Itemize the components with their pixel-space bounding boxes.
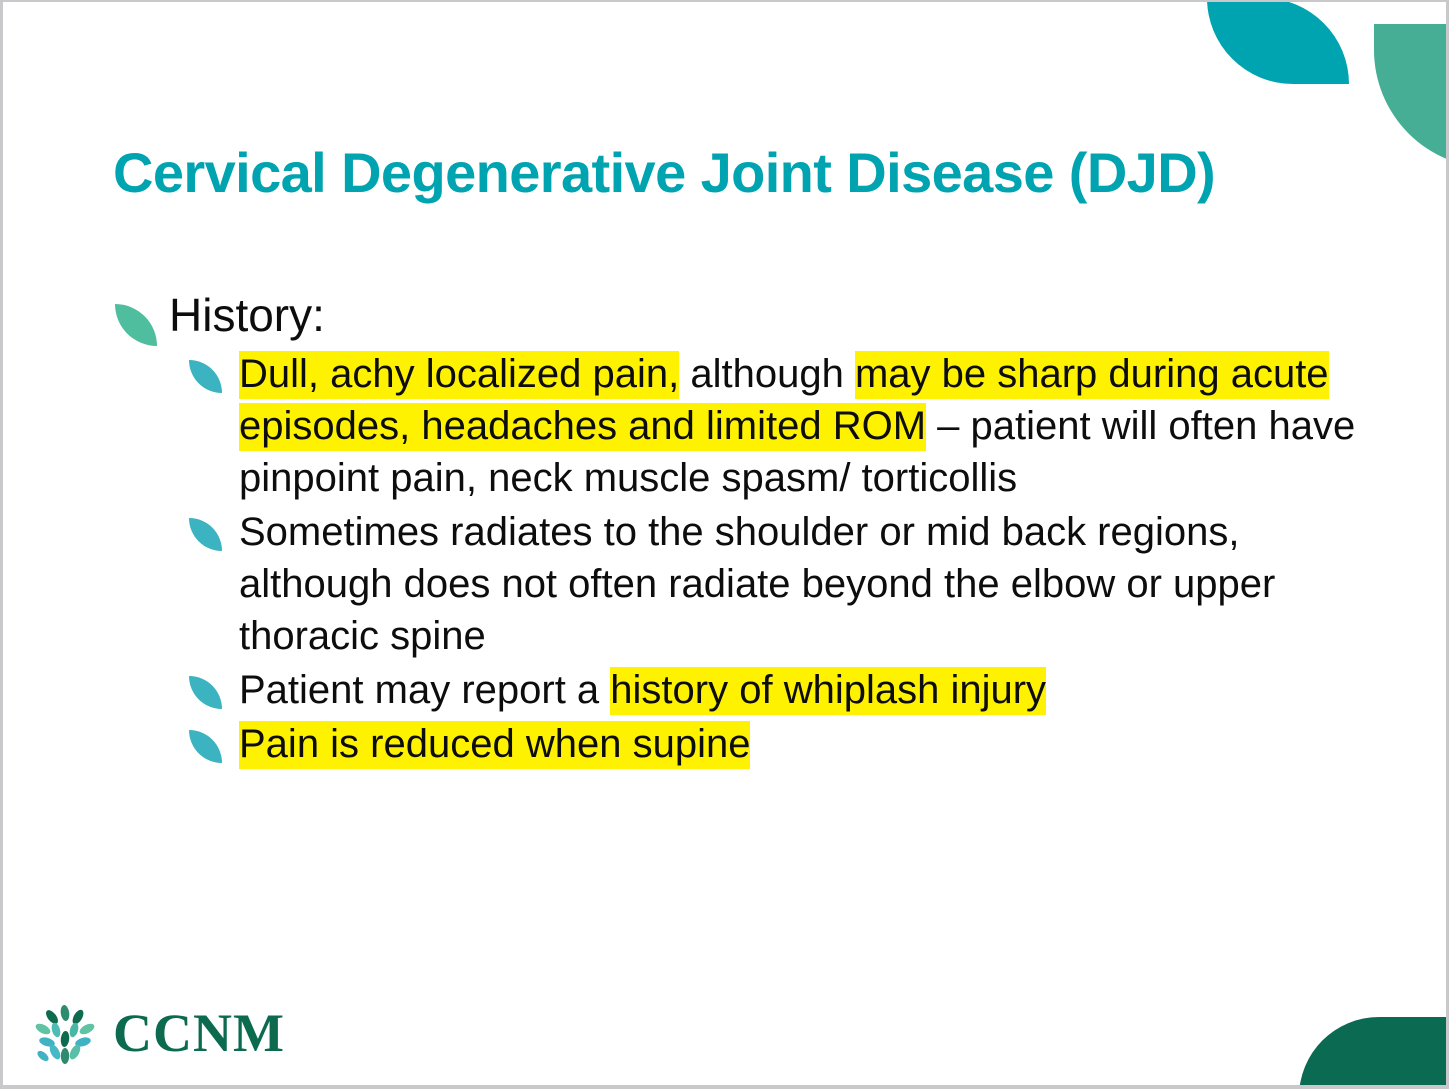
bullet-text: Pain is reduced when supine <box>239 721 750 769</box>
top-right-green-quarter-circle <box>1374 24 1449 168</box>
highlight-mark: history of whiplash injury <box>610 667 1046 715</box>
leaf-bullet-icon <box>115 304 157 346</box>
bullet-text: Patient may report a history of whiplash… <box>239 667 1046 715</box>
bullet-text-segment: Sometimes radiates to the shoulder or mi… <box>239 510 1275 658</box>
bullet-text: Dull, achy localized pain, although may … <box>239 351 1355 500</box>
ccnm-logo: CCNM <box>31 1002 291 1076</box>
leaf-bullet-icon <box>189 360 222 393</box>
top-right-teal-leaf-shape <box>1207 0 1349 84</box>
bullet-level2-list: Dull, achy localized pain, although may … <box>107 348 1357 770</box>
leaf-bullet-icon <box>189 518 222 551</box>
slide-title: Cervical Degenerative Joint Disease (DJD… <box>113 142 1343 205</box>
ccnm-wordmark: CCNM <box>113 1006 285 1060</box>
bullet-level1-label: History: <box>169 289 325 341</box>
leaf-cluster-logo-icon <box>31 1004 99 1072</box>
bullet-level1-history: History: <box>107 290 1357 342</box>
bottom-right-dark-green-quarter-circle <box>1299 1017 1449 1089</box>
slide-canvas: Cervical Degenerative Joint Disease (DJD… <box>0 0 1449 1089</box>
highlight-mark: Dull, achy localized pain, <box>239 351 679 399</box>
list-item: Patient may report a history of whiplash… <box>107 664 1357 716</box>
bullet-text-segment: although <box>679 352 855 396</box>
list-item: Pain is reduced when supine <box>107 718 1357 770</box>
leaf-bullet-icon <box>189 676 222 709</box>
list-item: Dull, achy localized pain, although may … <box>107 348 1357 504</box>
bullet-text: Sometimes radiates to the shoulder or mi… <box>239 510 1275 658</box>
slide-body: History: Dull, achy localized pain, alth… <box>107 290 1357 772</box>
bullet-text-segment: Patient may report a <box>239 668 610 712</box>
list-item: Sometimes radiates to the shoulder or mi… <box>107 506 1357 662</box>
highlight-mark: Pain is reduced when supine <box>239 721 750 769</box>
leaf-bullet-icon <box>189 730 222 763</box>
